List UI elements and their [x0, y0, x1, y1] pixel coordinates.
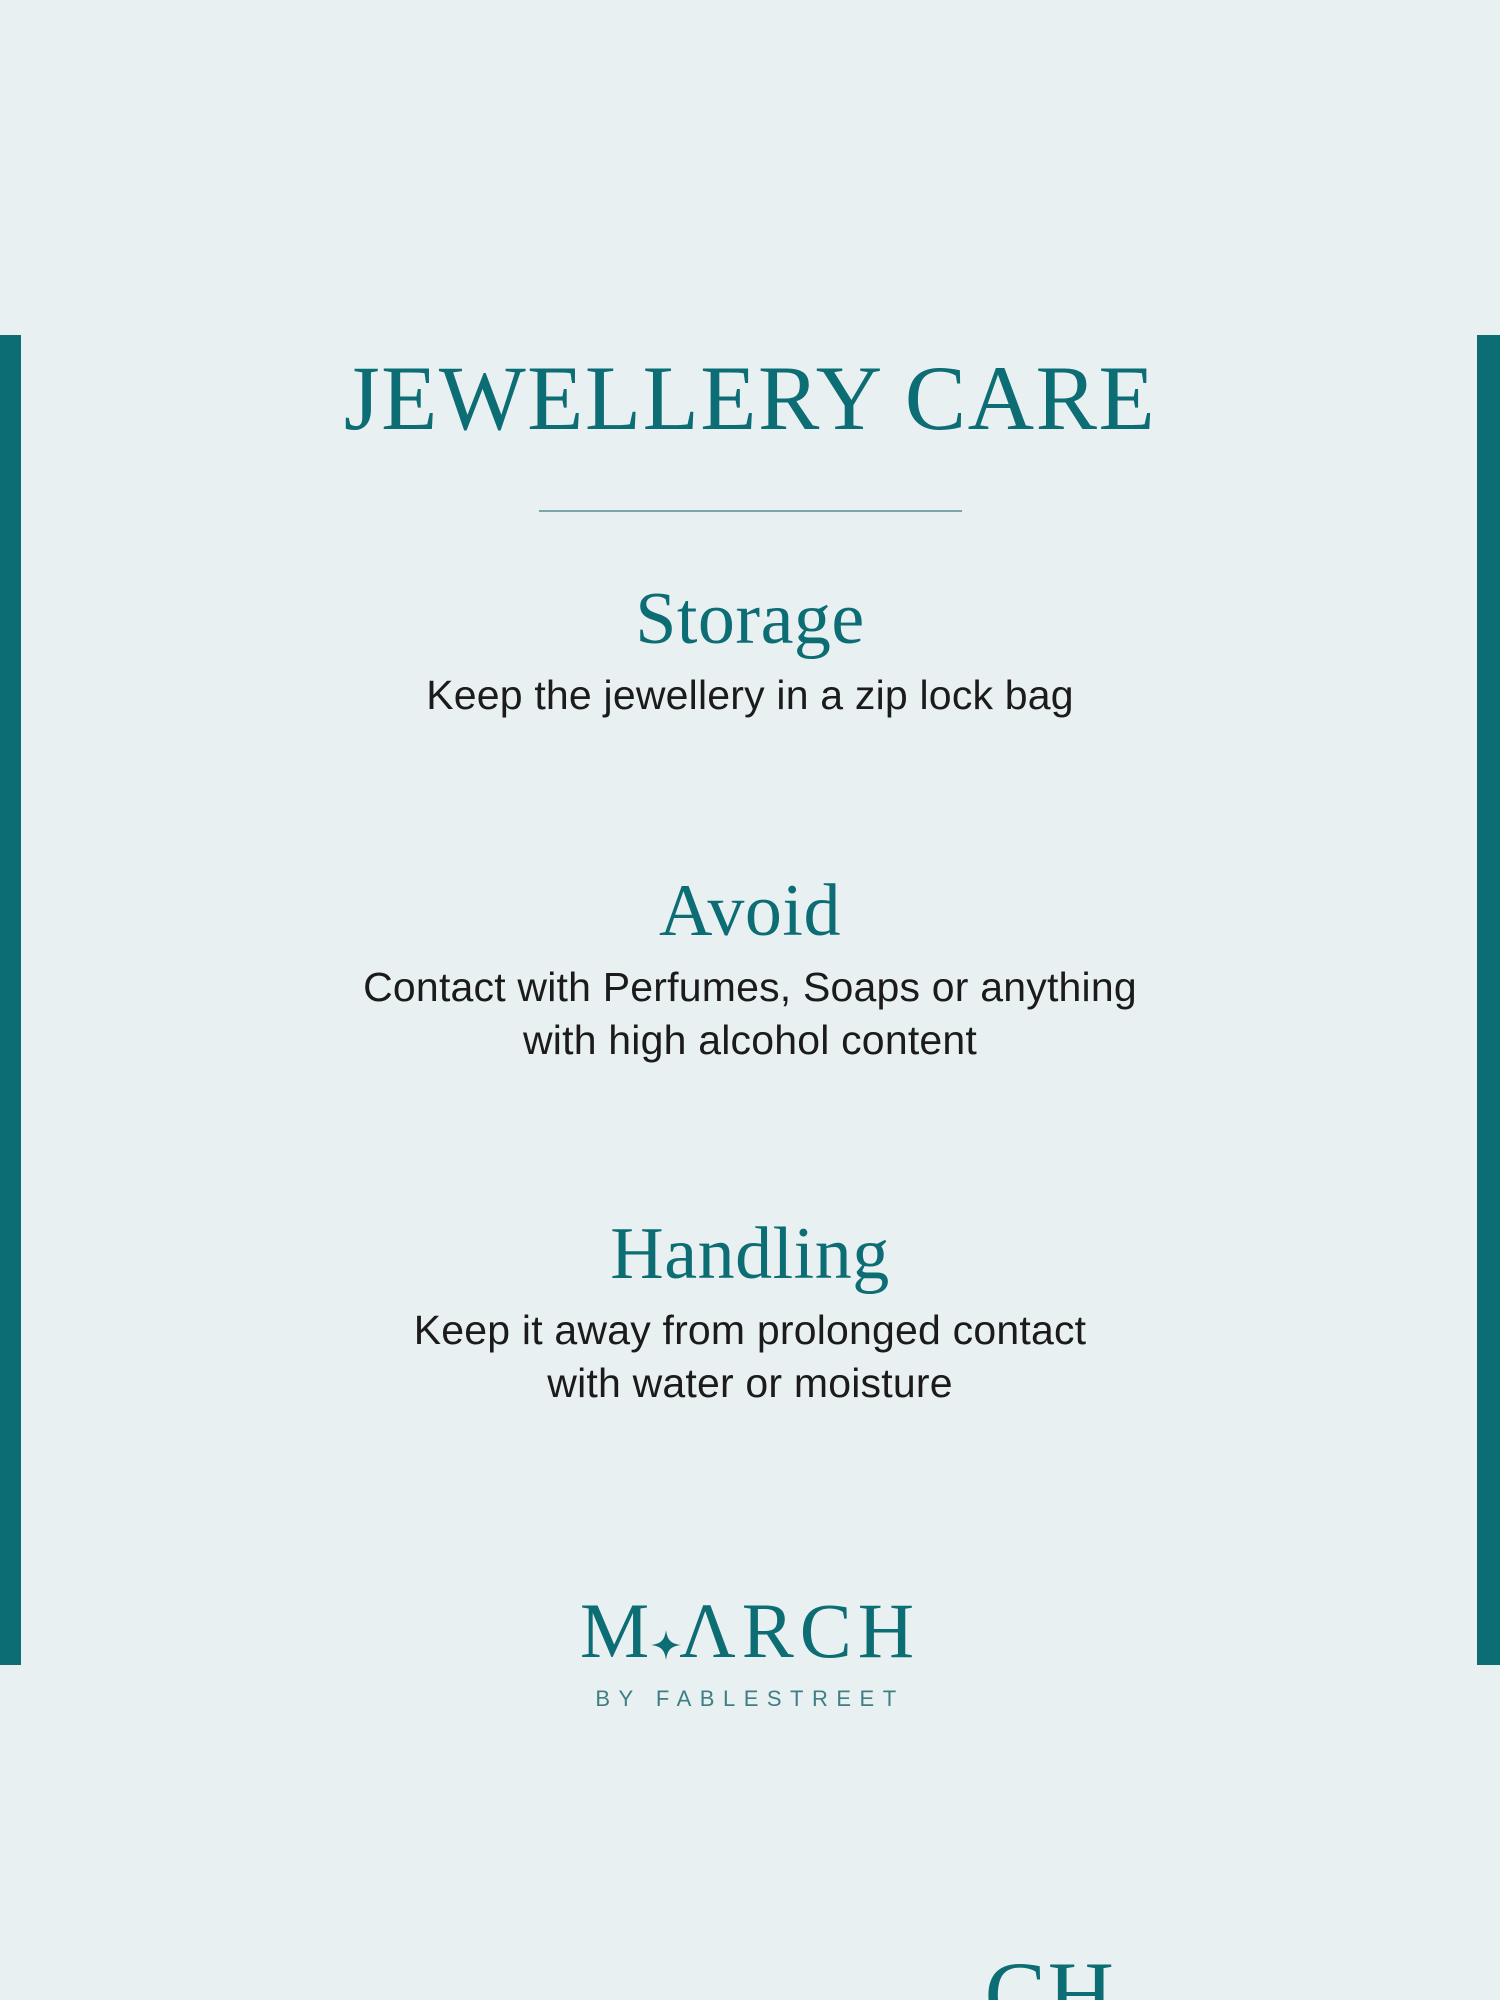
brand-wordmark: M ΛRCH — [580, 1592, 920, 1670]
next-section-peek-text: CH — [985, 1948, 1116, 2000]
brand-lockup: M ΛRCH BY FABLESTREET — [0, 1592, 1500, 1712]
section-handling: Handling Keep it away from prolonged con… — [0, 1213, 1500, 1410]
four-point-sparkle-icon — [651, 1630, 681, 1660]
brand-wordmark-after: ΛRCH — [679, 1592, 920, 1670]
section-heading-storage: Storage — [0, 578, 1500, 661]
section-storage: Storage Keep the jewellery in a zip lock… — [0, 578, 1500, 722]
section-heading-avoid: Avoid — [0, 870, 1500, 953]
section-avoid: Avoid Contact with Perfumes, Soaps or an… — [0, 870, 1500, 1067]
section-body-storage: Keep the jewellery in a zip lock bag — [0, 669, 1500, 722]
section-heading-handling: Handling — [0, 1213, 1500, 1296]
card-content: JEWELLERY CARE Storage Keep the jeweller… — [0, 0, 1500, 1712]
jewellery-care-card: JEWELLERY CARE Storage Keep the jeweller… — [0, 0, 1500, 2000]
brand-wordmark-before: M — [580, 1592, 655, 1670]
title-divider — [539, 510, 962, 512]
section-body-avoid: Contact with Perfumes, Soaps or anything… — [0, 961, 1500, 1068]
next-section-peek: CH — [0, 1948, 1500, 2000]
section-body-handling: Keep it away from prolonged contact with… — [0, 1304, 1500, 1411]
brand-tagline: BY FABLESTREET — [0, 1686, 1500, 1712]
page-title: JEWELLERY CARE — [0, 0, 1500, 444]
